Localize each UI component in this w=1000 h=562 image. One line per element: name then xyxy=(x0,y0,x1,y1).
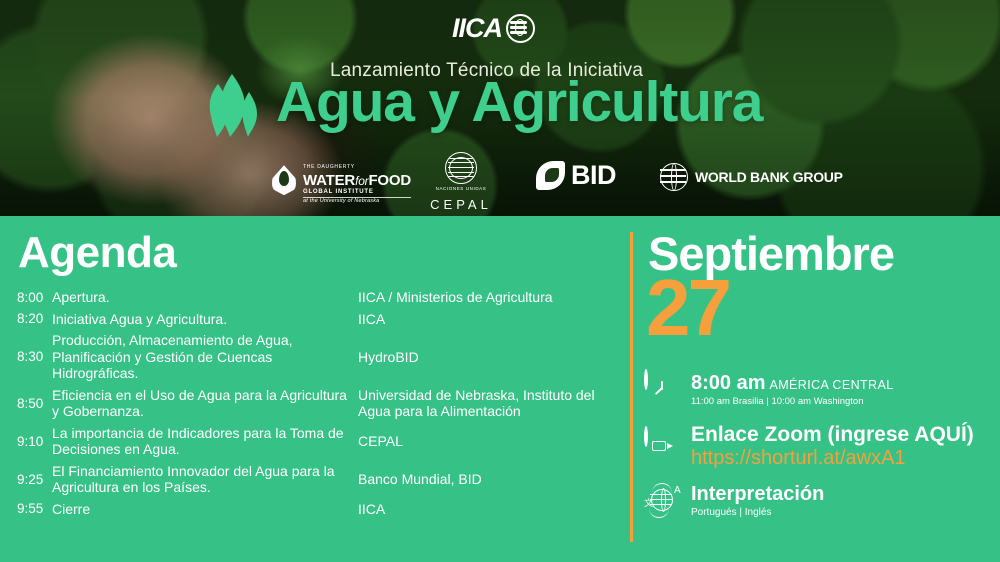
agenda-organization: HydroBID xyxy=(358,349,630,366)
event-time: 8:00 am xyxy=(691,372,766,394)
iica-wordmark: IICA xyxy=(452,15,502,42)
zoom-heading: Enlace Zoom (ingrese AQUÍ) xyxy=(691,423,974,447)
zoom-url[interactable]: https://shorturl.at/awxA1 xyxy=(691,447,974,469)
agenda-heading: Agenda xyxy=(18,228,176,278)
interpretation-heading: Interpretación xyxy=(691,483,824,506)
wff-food: FOOD xyxy=(368,172,411,189)
wff-water: WATER xyxy=(303,172,355,189)
partner-logos: THE DAUGHERTY WATERforFOOD GLOBAL INSTIT… xyxy=(0,150,1000,212)
event-timezone: AMÉRICA CENTRAL xyxy=(770,378,894,392)
agenda-organization: IICA / Ministerios de Agricultura xyxy=(358,289,630,306)
agenda-description: La importancia de Indicadores para la To… xyxy=(52,425,358,458)
water-leaf-icon xyxy=(202,72,266,138)
world-bank-globe-icon xyxy=(660,163,688,191)
agenda-time: 8:00 xyxy=(0,290,52,305)
logo-bid: BID xyxy=(536,160,616,191)
logo-water-for-food: THE DAUGHERTY WATERforFOOD GLOBAL INSTIT… xyxy=(272,156,411,205)
agenda-time: 9:10 xyxy=(0,434,52,449)
bid-mark-icon xyxy=(536,161,565,190)
event-title: Agua y Agricultura xyxy=(276,74,762,131)
agenda-organization: IICA xyxy=(358,311,630,328)
interpretation-languages: Portugués | Inglés xyxy=(691,507,824,518)
agenda-time: 8:50 xyxy=(0,396,52,411)
wff-line-4: at the University of Nebraska xyxy=(303,199,411,205)
agenda-description: Apertura. xyxy=(52,289,358,306)
agenda-row: 9:25 El Financiamiento Innovador del Agu… xyxy=(0,463,630,496)
agenda-organization: IICA xyxy=(358,501,630,518)
agenda-description: Producción, Almacenamiento de Agua, Plan… xyxy=(52,332,358,382)
iica-logo: IICA xyxy=(452,14,535,43)
event-time-block: 8:00 amAMÉRICA CENTRAL 11:00 am Brasilia… xyxy=(644,371,894,407)
agenda-time: 8:20 xyxy=(0,311,52,326)
agenda-list: 8:00 Apertura. IICA / Ministerios de Agr… xyxy=(0,289,630,522)
interpretation-block: 文A Interpretación Portugués | Inglés xyxy=(644,482,824,518)
agenda-panel: Agenda 8:00 Apertura. IICA / Ministerios… xyxy=(0,216,630,562)
agenda-time: 8:30 xyxy=(0,349,52,364)
agenda-row: 8:30 Producción, Almacenamiento de Agua,… xyxy=(0,332,630,382)
agenda-row: 9:10 La importancia de Indicadores para … xyxy=(0,425,630,458)
event-flyer: IICA Lanzamiento Técnico de la Iniciativ… xyxy=(0,0,1000,562)
world-bank-wordmark: WORLD BANK GROUP xyxy=(695,169,843,185)
iica-globe-icon xyxy=(506,14,535,43)
wff-for: for xyxy=(355,174,368,188)
event-day: 27 xyxy=(646,268,729,348)
wff-line-1: THE DAUGHERTY xyxy=(303,164,355,170)
agenda-time: 9:25 xyxy=(0,472,52,487)
video-camera-icon xyxy=(644,428,680,464)
agenda-row: 8:20 Iniciativa Agua y Agricultura. IICA xyxy=(0,311,630,328)
logo-world-bank-group: WORLD BANK GROUP xyxy=(660,163,843,191)
agenda-row: 8:50 Eficiencia en el Uso de Agua para l… xyxy=(0,387,630,420)
water-drop-icon xyxy=(272,165,296,195)
united-nations-icon xyxy=(445,152,477,184)
agenda-row: 8:00 Apertura. IICA / Ministerios de Agr… xyxy=(0,289,630,306)
hero-banner: IICA Lanzamiento Técnico de la Iniciativ… xyxy=(0,0,1000,216)
agenda-description: Cierre xyxy=(52,501,358,518)
event-alt-times: 11:00 am Brasilia | 10:00 am Washington xyxy=(691,396,894,407)
agenda-organization: Universidad de Nebraska, Instituto del A… xyxy=(358,387,630,420)
agenda-description: Eficiencia en el Uso de Agua para la Agr… xyxy=(52,387,358,420)
cepal-caption: NACIONES UNIDAS xyxy=(424,186,498,191)
logo-cepal: NACIONES UNIDAS CEPAL xyxy=(424,152,498,212)
wff-line-3: GLOBAL INSTITUTE xyxy=(303,189,411,195)
agenda-row: 9:55 Cierre IICA xyxy=(0,501,630,518)
clock-icon xyxy=(644,371,680,407)
translate-globe-icon: 文A xyxy=(644,482,680,518)
bid-wordmark: BID xyxy=(571,160,616,191)
agenda-organization: Banco Mundial, BID xyxy=(358,471,630,488)
agenda-time: 9:55 xyxy=(0,501,52,516)
agenda-description: El Financiamiento Innovador del Agua par… xyxy=(52,463,358,496)
zoom-link-block[interactable]: Enlace Zoom (ingrese AQUÍ) https://short… xyxy=(644,423,974,469)
cepal-wordmark: CEPAL xyxy=(424,197,498,212)
agenda-description: Iniciativa Agua y Agricultura. xyxy=(52,311,358,328)
agenda-organization: CEPAL xyxy=(358,433,630,450)
event-details-panel: Septiembre 27 8:00 amAMÉRICA CENTRAL 11:… xyxy=(630,216,1000,562)
